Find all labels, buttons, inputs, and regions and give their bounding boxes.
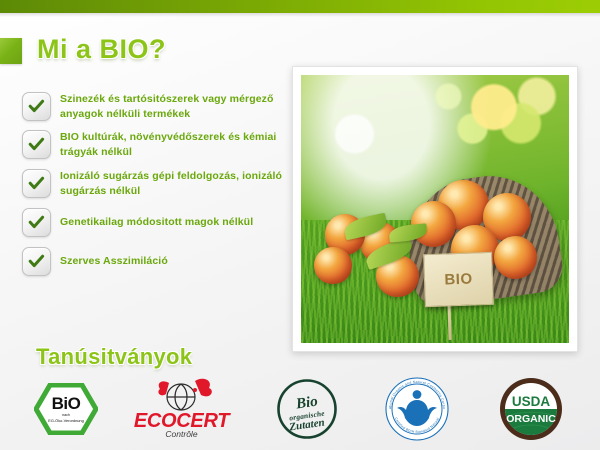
- slide-root: Mi a BIO? Szinezék és tartósitószerek va…: [0, 0, 600, 450]
- logo-bio-word: BiO: [52, 395, 81, 412]
- top-green-bar: [0, 0, 600, 13]
- list-item: Ionizáló sugárzás gépi feldolgozás, ioni…: [22, 169, 290, 198]
- bdih-person-icon: International Organic and Natural Cosmet…: [384, 376, 450, 442]
- logo-bio-sub2: EG-Öko-Verordnung: [48, 419, 83, 423]
- apple: [314, 247, 352, 285]
- title-accent-square: [0, 38, 22, 64]
- ecocert-globe-butterfly-icon: [129, 377, 234, 411]
- check-icon: [22, 208, 51, 237]
- photo-frame: BIO: [292, 66, 578, 352]
- certificates-title: Tanúsitványok: [36, 344, 192, 370]
- list-item-label: Szerves Asszimiláció: [60, 254, 168, 268]
- check-icon: [22, 169, 51, 198]
- list-item-label: Szinezék és tartósitószerek vagy mérgező…: [60, 92, 290, 121]
- bio-sign-label: BIO: [444, 270, 473, 288]
- bio-sign: BIO: [423, 251, 494, 306]
- list-item-label: Genetikailag módositott magok nélkül: [60, 215, 253, 229]
- svg-text:USDA: USDA: [512, 394, 551, 409]
- photo-apples-basket: BIO: [301, 75, 569, 343]
- logo-bio-organische-zutaten: Bio organische Zutaten: [262, 372, 352, 446]
- usda-organic-icon: USDA ORGANIC: [498, 376, 564, 442]
- list-item: Szerves Asszimiláció: [22, 247, 290, 276]
- list-item: BIO kultúrák, növényvédőszerek és kémiai…: [22, 130, 290, 159]
- logo-ecocert: ECOCERT Contrôle: [124, 372, 239, 446]
- list-item: Szinezék és tartósitószerek vagy mérgező…: [22, 92, 290, 121]
- logo-bdih-natural-cosmetics: International Organic and Natural Cosmet…: [362, 372, 472, 446]
- list-item-label: Ionizáló sugárzás gépi feldolgozás, ioni…: [60, 169, 290, 198]
- svg-text:ORGANIC: ORGANIC: [506, 413, 556, 425]
- benefits-list: Szinezék és tartósitószerek vagy mérgező…: [22, 92, 290, 282]
- list-item: Genetikailag módositott magok nélkül: [22, 208, 290, 237]
- check-icon: [22, 92, 51, 121]
- top-bar-shadow: [0, 13, 600, 17]
- logo-usda-organic: USDA ORGANIC: [476, 372, 586, 446]
- check-icon: [22, 247, 51, 276]
- logo-bio-hexagon: BiO nach EG-Öko-Verordnung: [28, 372, 104, 446]
- certificate-logos: BiO nach EG-Öko-Verordnung ECOCERT: [14, 372, 586, 446]
- apple: [494, 236, 537, 279]
- logo-ecocert-sub: Contrôle: [129, 429, 234, 439]
- page-title: Mi a BIO?: [37, 34, 166, 65]
- list-item-label: BIO kultúrák, növényvédőszerek és kémiai…: [60, 130, 290, 159]
- check-icon: [22, 130, 51, 159]
